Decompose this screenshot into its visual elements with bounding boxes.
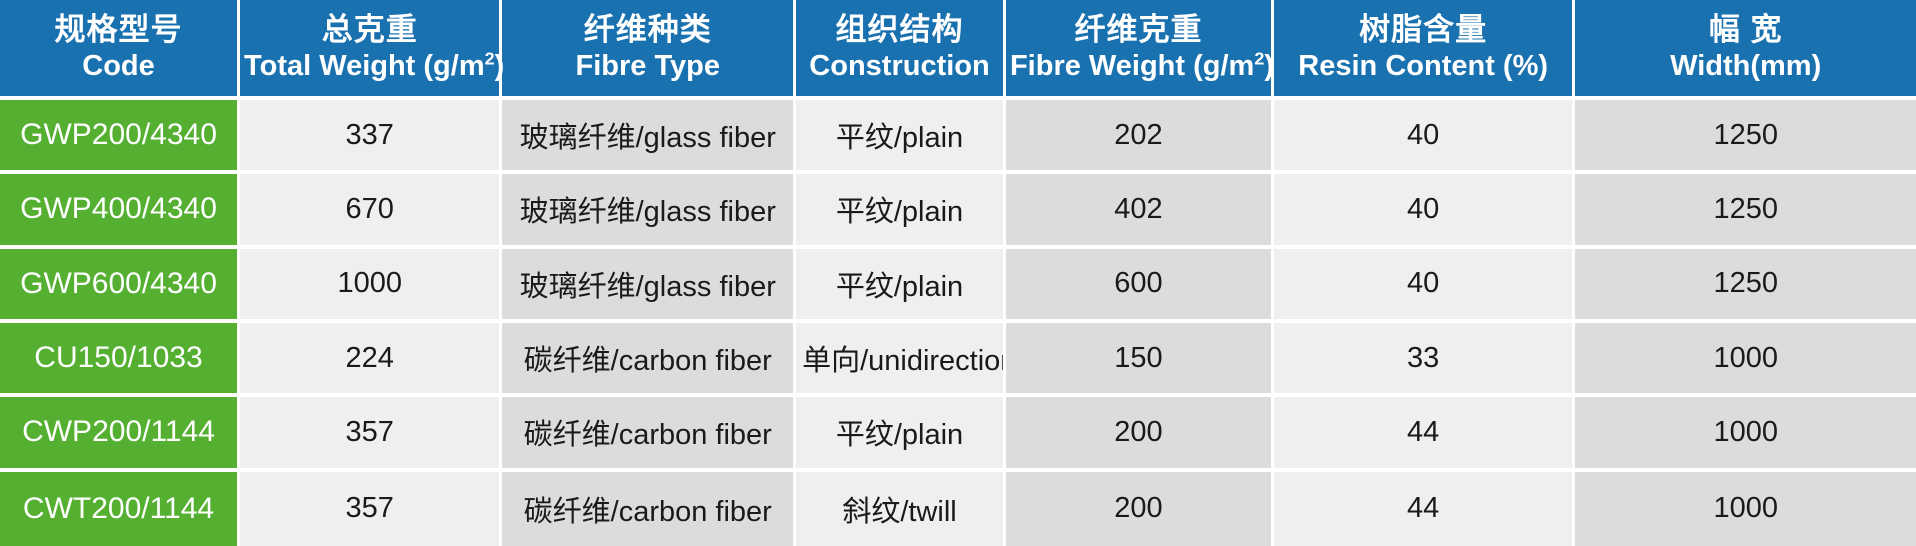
column-header-code: 规格型号 Code — [0, 0, 240, 100]
column-header-width-en: Width(mm) — [1579, 50, 1912, 82]
cell-fibre-weight: 200 — [1006, 472, 1274, 546]
cell-total-weight: 1000 — [240, 249, 502, 323]
cell-resin-content: 44 — [1274, 397, 1575, 471]
column-header-fibre-type-cn: 纤维种类 — [506, 13, 789, 48]
cell-width: 1000 — [1575, 397, 1916, 471]
cell-fibre-weight: 150 — [1006, 323, 1274, 397]
cell-construction: 斜纹/twill — [796, 472, 1006, 546]
table-row: CU150/1033 224 碳纤维/carbon fiber 单向/unidi… — [0, 323, 1916, 397]
cell-total-weight: 224 — [240, 323, 502, 397]
column-header-resin-content: 树脂含量 Resin Content (%) — [1274, 0, 1575, 100]
cell-width: 1250 — [1575, 174, 1916, 248]
cell-code: CWT200/1144 — [0, 472, 240, 546]
table-row: GWP400/4340 670 玻璃纤维/glass fiber 平纹/plai… — [0, 174, 1916, 248]
table-header-row: 规格型号 Code 总克重 Total Weight (g/m2) 纤维种类 F… — [0, 0, 1916, 100]
column-header-width-cn: 幅 宽 — [1579, 13, 1912, 48]
cell-code: GWP400/4340 — [0, 174, 240, 248]
cell-resin-content: 40 — [1274, 100, 1575, 174]
fibre-weight-unit-tail: ) — [1264, 50, 1274, 82]
cell-fibre-type: 玻璃纤维/glass fiber — [502, 100, 796, 174]
cell-code: GWP200/4340 — [0, 100, 240, 174]
cell-fibre-type: 碳纤维/carbon fiber — [502, 397, 796, 471]
cell-resin-content: 40 — [1274, 249, 1575, 323]
cell-construction: 单向/unidirectional — [796, 323, 1006, 397]
cell-total-weight: 337 — [240, 100, 502, 174]
column-header-code-en: Code — [4, 50, 233, 82]
column-header-fibre-weight-en: Fibre Weight (g/m2) — [1010, 50, 1267, 82]
total-weight-unit-base: Total Weight (g/m — [244, 50, 485, 82]
fibre-weight-unit-exponent: 2 — [1254, 48, 1264, 68]
column-header-construction: 组织结构 Construction — [796, 0, 1006, 100]
table-row: CWT200/1144 357 碳纤维/carbon fiber 斜纹/twil… — [0, 472, 1916, 546]
cell-construction: 平纹/plain — [796, 174, 1006, 248]
cell-fibre-type: 玻璃纤维/glass fiber — [502, 174, 796, 248]
cell-fibre-weight: 600 — [1006, 249, 1274, 323]
column-header-fibre-weight-cn: 纤维克重 — [1010, 13, 1267, 48]
cell-resin-content: 40 — [1274, 174, 1575, 248]
cell-resin-content: 33 — [1274, 323, 1575, 397]
cell-code: GWP600/4340 — [0, 249, 240, 323]
product-specification-table: 规格型号 Code 总克重 Total Weight (g/m2) 纤维种类 F… — [0, 0, 1916, 546]
cell-width: 1000 — [1575, 323, 1916, 397]
column-header-resin-content-cn: 树脂含量 — [1278, 13, 1568, 48]
total-weight-unit-exponent: 2 — [485, 48, 495, 68]
cell-fibre-weight: 200 — [1006, 397, 1274, 471]
cell-code: CWP200/1144 — [0, 397, 240, 471]
table-row: CWP200/1144 357 碳纤维/carbon fiber 平纹/plai… — [0, 397, 1916, 471]
cell-construction: 平纹/plain — [796, 249, 1006, 323]
column-header-fibre-type: 纤维种类 Fibre Type — [502, 0, 796, 100]
column-header-fibre-type-en: Fibre Type — [506, 50, 789, 82]
cell-fibre-type: 碳纤维/carbon fiber — [502, 323, 796, 397]
cell-fibre-weight: 402 — [1006, 174, 1274, 248]
cell-fibre-weight: 202 — [1006, 100, 1274, 174]
cell-total-weight: 670 — [240, 174, 502, 248]
column-header-total-weight-en: Total Weight (g/m2) — [244, 50, 495, 82]
cell-width: 1250 — [1575, 100, 1916, 174]
cell-construction: 平纹/plain — [796, 397, 1006, 471]
table-row: GWP200/4340 337 玻璃纤维/glass fiber 平纹/plai… — [0, 100, 1916, 174]
column-header-total-weight: 总克重 Total Weight (g/m2) — [240, 0, 502, 100]
cell-construction: 平纹/plain — [796, 100, 1006, 174]
cell-width: 1250 — [1575, 249, 1916, 323]
column-header-width: 幅 宽 Width(mm) — [1575, 0, 1916, 100]
cell-width: 1000 — [1575, 472, 1916, 546]
column-header-code-cn: 规格型号 — [4, 13, 233, 48]
cell-fibre-type: 玻璃纤维/glass fiber — [502, 249, 796, 323]
cell-fibre-type: 碳纤维/carbon fiber — [502, 472, 796, 546]
cell-total-weight: 357 — [240, 397, 502, 471]
cell-code: CU150/1033 — [0, 323, 240, 397]
column-header-resin-content-en: Resin Content (%) — [1278, 50, 1568, 82]
table-row: GWP600/4340 1000 玻璃纤维/glass fiber 平纹/pla… — [0, 249, 1916, 323]
column-header-construction-cn: 组织结构 — [800, 13, 999, 48]
fibre-weight-unit-base: Fibre Weight (g/m — [1010, 50, 1254, 82]
cell-resin-content: 44 — [1274, 472, 1575, 546]
total-weight-unit-tail: ) — [495, 50, 505, 82]
column-header-construction-en: Construction — [800, 50, 999, 82]
column-header-fibre-weight: 纤维克重 Fibre Weight (g/m2) — [1006, 0, 1274, 100]
cell-total-weight: 357 — [240, 472, 502, 546]
column-header-total-weight-cn: 总克重 — [244, 13, 495, 48]
